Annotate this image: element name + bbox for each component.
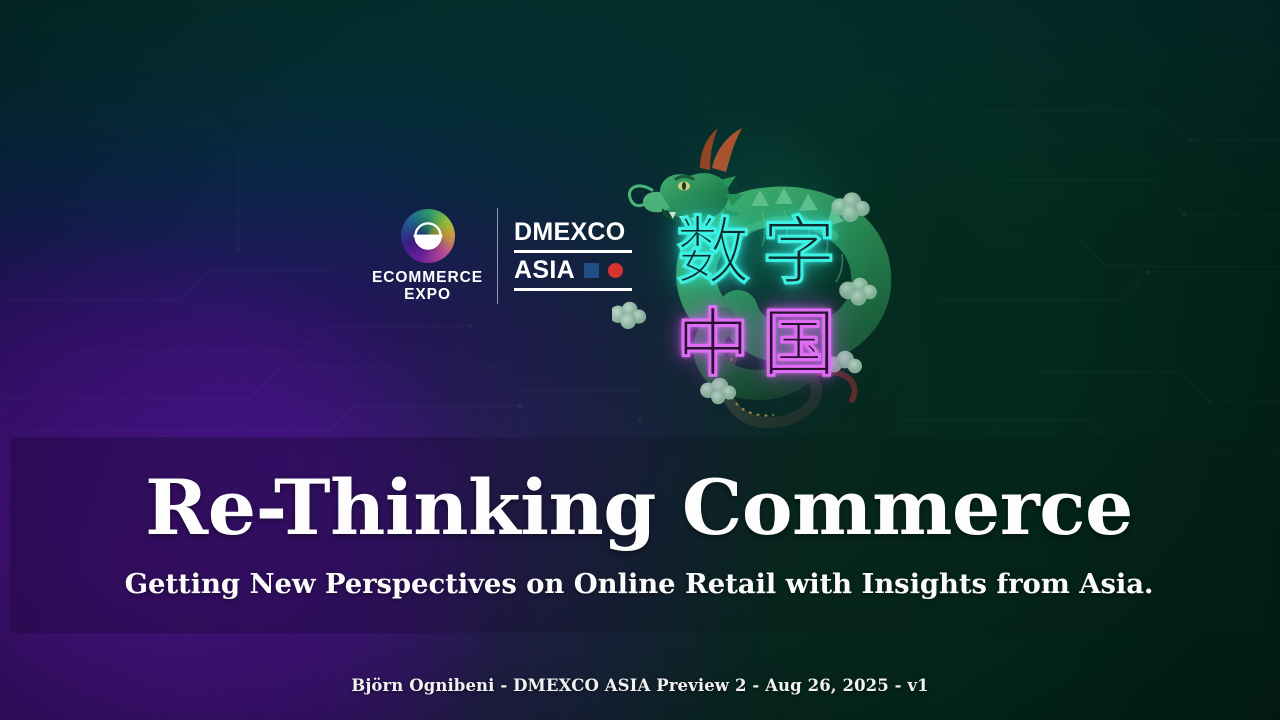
logo-line-2: EXPO xyxy=(372,287,483,303)
asia-wordmark: ASIA xyxy=(514,258,575,283)
ecommerce-expo-logo: ECOMMERCE EXPO xyxy=(362,209,493,303)
neon-text-zhongguo: 中国 xyxy=(612,284,912,391)
dmexco-asia-logo: DMEXCO ASIA xyxy=(514,216,632,296)
korea-flag-square-icon xyxy=(584,263,599,278)
logo-line-1: ECOMMERCE xyxy=(372,270,483,286)
neon-text-shuzi: 数字 xyxy=(612,192,912,299)
page-subtitle: Getting New Perspectives on Online Retai… xyxy=(125,568,1154,600)
brand-lockup: ECOMMERCE EXPO DMEXCO ASIA xyxy=(362,196,632,316)
ecommerce-expo-logo-icon xyxy=(401,209,455,263)
dmexco-rule-bottom xyxy=(514,288,632,291)
page-title: Re-Thinking Commerce xyxy=(145,470,1133,546)
dmexco-wordmark: DMEXCO xyxy=(514,220,632,245)
slide-footer: Björn Ognibeni - DMEXCO ASIA Preview 2 -… xyxy=(0,668,1280,702)
presentation-slide: 数字 中国 ECOMMERCE EXPO DMEXCO xyxy=(0,0,1280,720)
dmexco-rule-top xyxy=(514,250,632,253)
ecommerce-expo-wordmark: ECOMMERCE EXPO xyxy=(372,270,483,303)
dragon-artwork: 数字 中国 xyxy=(612,96,912,436)
lockup-divider xyxy=(497,208,498,304)
title-band: Re-Thinking Commerce Getting New Perspec… xyxy=(10,437,1268,633)
japan-flag-circle-icon xyxy=(608,263,623,278)
